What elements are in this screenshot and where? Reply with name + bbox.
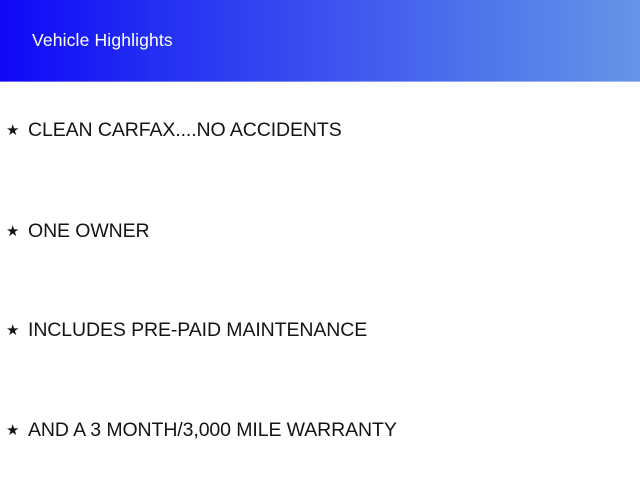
vehicle-highlights-panel: Vehicle Highlights ★ CLEAN CARFAX....NO … bbox=[0, 0, 640, 480]
list-item: ★ AND A 3 MONTH/3,000 MILE WARRANTY bbox=[0, 418, 640, 444]
highlight-label: CLEAN CARFAX....NO ACCIDENTS bbox=[28, 121, 342, 141]
list-item: ★ ONE OWNER bbox=[0, 219, 640, 245]
star-icon: ★ bbox=[6, 323, 28, 338]
star-icon: ★ bbox=[6, 224, 28, 239]
highlight-label: INCLUDES PRE-PAID MAINTENANCE bbox=[28, 321, 367, 341]
highlight-label: ONE OWNER bbox=[28, 222, 150, 242]
page-title: Vehicle Highlights bbox=[32, 0, 173, 82]
vehicle-highlights-list: ★ CLEAN CARFAX....NO ACCIDENTS ★ ONE OWN… bbox=[0, 82, 640, 480]
list-item: ★ INCLUDES PRE-PAID MAINTENANCE bbox=[0, 318, 640, 344]
star-icon: ★ bbox=[6, 123, 28, 138]
panel-header-band: Vehicle Highlights bbox=[0, 0, 640, 82]
highlight-label: AND A 3 MONTH/3,000 MILE WARRANTY bbox=[28, 421, 397, 441]
star-icon: ★ bbox=[6, 423, 28, 438]
list-item: ★ CLEAN CARFAX....NO ACCIDENTS bbox=[0, 118, 640, 144]
